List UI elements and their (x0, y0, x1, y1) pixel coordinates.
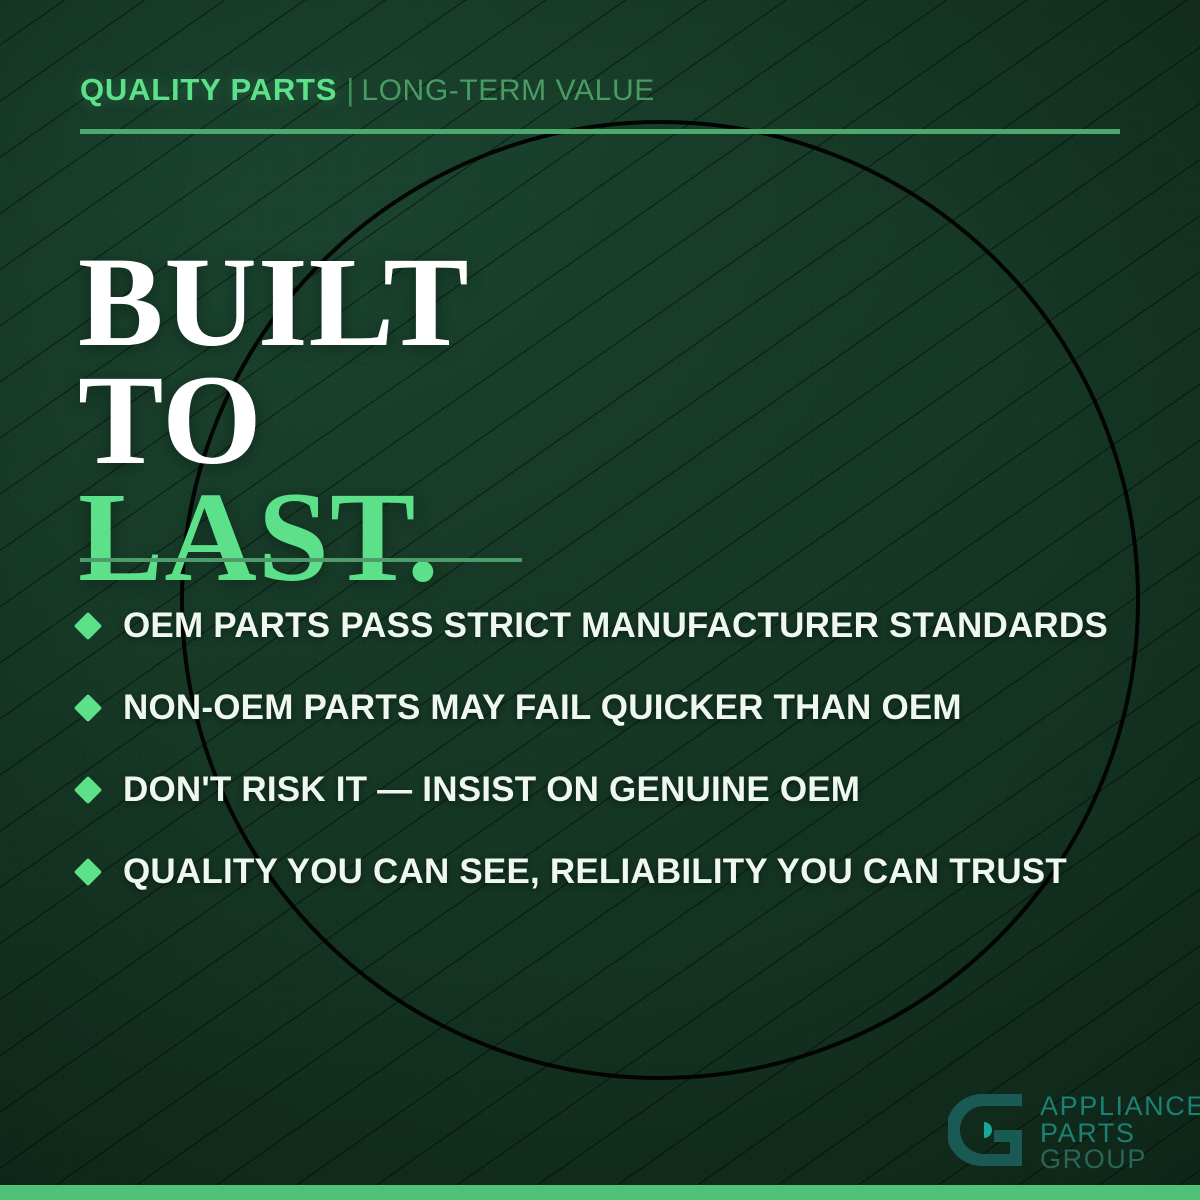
diamond-icon (74, 858, 102, 886)
eyebrow-line: QUALITY PARTS|LONG-TERM VALUE (80, 74, 655, 106)
diamond-icon (74, 694, 102, 722)
brand-logo-line-3: GROUP (1040, 1146, 1200, 1173)
header-divider-rule (80, 129, 1120, 134)
list-item: OEM PARTS PASS STRICT MANUFACTURER STAND… (78, 585, 1148, 667)
poster-canvas: QUALITY PARTS|LONG-TERM VALUE BUILT TO L… (0, 0, 1200, 1200)
list-item: NON-OEM PARTS MAY FAIL QUICKER THAN OEM (78, 667, 1148, 749)
brand-logo: APPLIANCE PARTS GROUP (948, 1090, 1200, 1173)
list-item: QUALITY YOU CAN SEE, RELIABILITY YOU CAN… (78, 831, 1148, 913)
headline-line-1: BUILT (78, 244, 470, 362)
headline-line-3: LAST. (78, 479, 470, 597)
list-item-label: QUALITY YOU CAN SEE, RELIABILITY YOU CAN… (123, 852, 1067, 892)
eyebrow-main-label: QUALITY PARTS (80, 72, 337, 107)
benefits-list: OEM PARTS PASS STRICT MANUFACTURER STAND… (78, 585, 1148, 913)
headline-underline-rule (80, 558, 522, 562)
g-monogram-icon (948, 1090, 1026, 1170)
brand-logo-line-1: APPLIANCE (1040, 1093, 1200, 1120)
eyebrow-separator: | (346, 72, 354, 107)
brand-logo-wordmark: APPLIANCE PARTS GROUP (1040, 1090, 1200, 1173)
poster-content: QUALITY PARTS|LONG-TERM VALUE BUILT TO L… (0, 0, 1200, 1200)
list-item-label: DON'T RISK IT — INSIST ON GENUINE OEM (123, 770, 860, 810)
page-title: BUILT TO LAST. (78, 244, 470, 597)
list-item: DON'T RISK IT — INSIST ON GENUINE OEM (78, 749, 1148, 831)
bottom-accent-bar (0, 1185, 1200, 1200)
eyebrow-sub-label: LONG-TERM VALUE (361, 74, 655, 107)
list-item-label: OEM PARTS PASS STRICT MANUFACTURER STAND… (123, 606, 1108, 646)
diamond-icon (74, 612, 102, 640)
headline-line-2: TO (78, 362, 470, 480)
diamond-icon (74, 776, 102, 804)
list-item-label: NON-OEM PARTS MAY FAIL QUICKER THAN OEM (123, 688, 962, 728)
brand-logo-line-2: PARTS (1040, 1120, 1200, 1147)
